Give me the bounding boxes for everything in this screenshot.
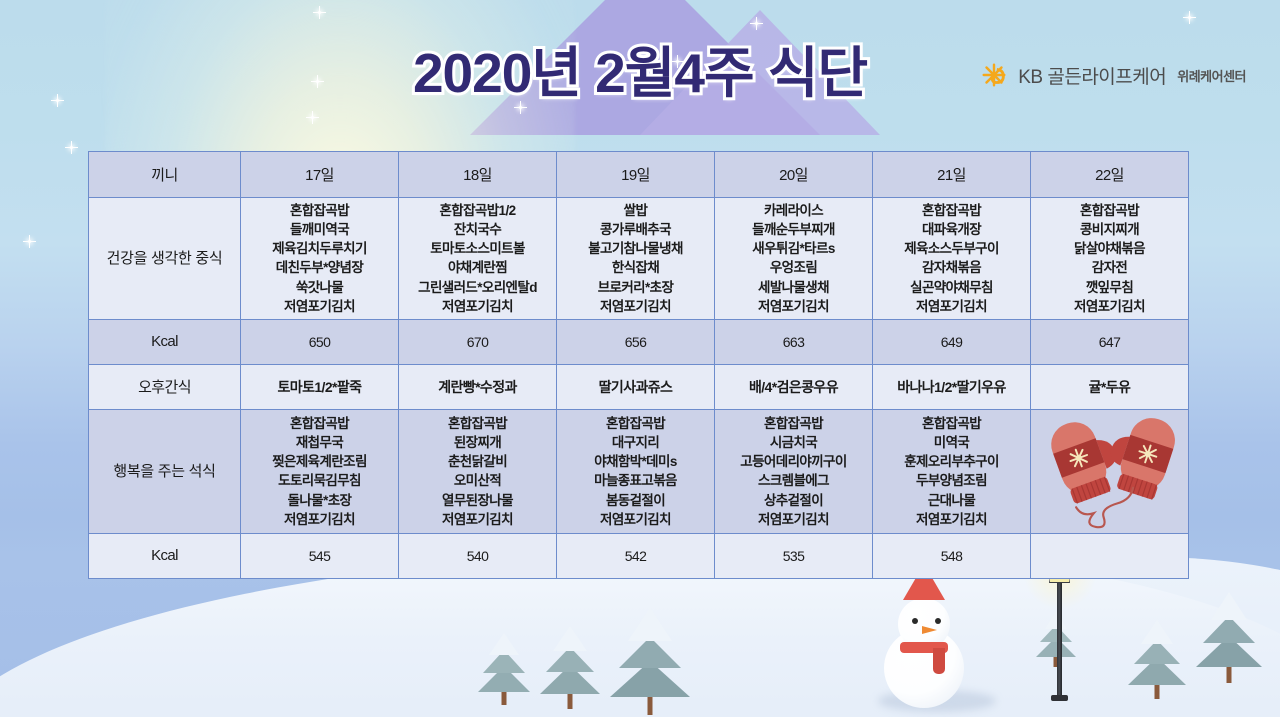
- poster-canvas: 2020년 2월4주 식단 KB 골든라이프케어 위례케어센터 끼니17일18일…: [0, 0, 1280, 717]
- dish-item: 새우튀김*타르s: [717, 239, 870, 258]
- menu-cell: 혼합잡곡밥1/2잔치국수토마토소스미트볼야채계란찜그린샐러드*오리엔탈d저염포기…: [399, 198, 557, 320]
- dish-item: 대구지리: [559, 433, 712, 452]
- dish-item: 들깨미역국: [243, 220, 396, 239]
- menu-cell: 딸기사과쥬스: [557, 364, 715, 409]
- menu-cell: 540: [399, 533, 557, 578]
- menu-cell: 650: [241, 319, 399, 364]
- menu-cell: 663: [715, 319, 873, 364]
- sparkle-star-icon: [755, 22, 758, 25]
- dish-item: 들깨순두부찌개: [717, 220, 870, 239]
- red-mittens-icon: [1031, 409, 1189, 533]
- column-header-day: 17일: [241, 152, 399, 198]
- pine-tree-icon: [610, 603, 690, 715]
- dish-list: 혼합잡곡밥시금치국고등어데리야끼구이스크렘블에그상추겉절이저염포기김치: [717, 414, 870, 529]
- dish-item: 열무된장나물: [401, 491, 554, 510]
- dish-item: 혼합잡곡밥: [243, 201, 396, 220]
- dish-list: 혼합잡곡밥콩비지찌개닭살야채볶음감자전깻잎무침저염포기김치: [1033, 201, 1186, 316]
- dish-item: 불고기참나물냉채: [559, 239, 712, 258]
- dish-item: 혼합잡곡밥: [559, 414, 712, 433]
- dish-item: 혼합잡곡밥: [243, 414, 396, 433]
- menu-cell: 656: [557, 319, 715, 364]
- dish-item: 세발나물생채: [717, 278, 870, 297]
- dish-item: 상추겉절이: [717, 491, 870, 510]
- dish-item: 두부양념조림: [875, 471, 1028, 490]
- column-header-day: 19일: [557, 152, 715, 198]
- dish-item: 혼합잡곡밥1/2: [401, 201, 554, 220]
- row-label: Kcal: [89, 533, 241, 578]
- dish-item: 감자채볶음: [875, 258, 1028, 277]
- table-header-row: 끼니17일18일19일20일21일22일: [89, 152, 1189, 198]
- menu-cell: 혼합잡곡밥대파육개장제육소스두부구이감자채볶음실곤약야채무침저염포기김치: [873, 198, 1031, 320]
- row-label: 오후간식: [89, 364, 241, 409]
- dish-item: 저염포기김치: [717, 510, 870, 529]
- dish-item: 제육소스두부구이: [875, 239, 1028, 258]
- dish-item: 스크렘블에그: [717, 471, 870, 490]
- dish-item: 춘천닭갈비: [401, 452, 554, 471]
- dish-item: 돌나물*초장: [243, 491, 396, 510]
- dish-item: 오미산적: [401, 471, 554, 490]
- dish-item: 저염포기김치: [875, 510, 1028, 529]
- dish-item: 카레라이스: [717, 201, 870, 220]
- dish-list: 혼합잡곡밥된장찌개춘천닭갈비오미산적열무된장나물저염포기김치: [401, 414, 554, 529]
- menu-cell: 혼합잡곡밥시금치국고등어데리야끼구이스크렘블에그상추겉절이저염포기김치: [715, 409, 873, 533]
- pine-tree-icon: [540, 623, 600, 709]
- row-label: Kcal: [89, 319, 241, 364]
- dish-item: 제육김치두루치기: [243, 239, 396, 258]
- dish-item: 저염포기김치: [559, 510, 712, 529]
- menu-cell: 545: [241, 533, 399, 578]
- table-row: Kcal650670656663649647: [89, 319, 1189, 364]
- dish-list: 혼합잡곡밥대파육개장제육소스두부구이감자채볶음실곤약야채무침저염포기김치: [875, 201, 1028, 316]
- sparkle-star-icon: [28, 240, 31, 243]
- menu-cell: 혼합잡곡밥된장찌개춘천닭갈비오미산적열무된장나물저염포기김치: [399, 409, 557, 533]
- menu-cell: 토마토1/2*팥죽: [241, 364, 399, 409]
- dish-item: 그린샐러드*오리엔탈d: [401, 278, 554, 297]
- dish-list: 혼합잡곡밥대구지리야채함박*데미s마늘종표고볶음봄동겉절이저염포기김치: [559, 414, 712, 529]
- menu-table: 끼니17일18일19일20일21일22일건강을 생각한 중식혼합잡곡밥들깨미역국…: [88, 151, 1189, 579]
- column-header-day: 20일: [715, 152, 873, 198]
- menu-cell: 카레라이스들깨순두부찌개새우튀김*타르s우엉조림세발나물생채저염포기김치: [715, 198, 873, 320]
- menu-cell: 혼합잡곡밥재첩무국찢은제육계란조림도토리묵김무침돌나물*초장저염포기김치: [241, 409, 399, 533]
- menu-cell: 649: [873, 319, 1031, 364]
- dish-item: 야채계란찜: [401, 258, 554, 277]
- row-label: 행복을 주는 석식: [89, 409, 241, 533]
- menu-cell: 계란빵*수정과: [399, 364, 557, 409]
- menu-cell: 쌀밥콩가루배추국불고기참나물냉채한식잡채브로커리*초장저염포기김치: [557, 198, 715, 320]
- pine-tree-icon: [1196, 589, 1262, 683]
- dish-item: 저염포기김치: [717, 297, 870, 316]
- brand-sub: 위례케어센터: [1177, 66, 1246, 85]
- sparkle-star-icon: [1188, 16, 1191, 19]
- dish-item: 된장찌개: [401, 433, 554, 452]
- dish-item: 혼합잡곡밥: [875, 414, 1028, 433]
- dish-item: 감자전: [1033, 258, 1186, 277]
- menu-cell: [1031, 533, 1189, 578]
- dish-list: 쌀밥콩가루배추국불고기참나물냉채한식잡채브로커리*초장저염포기김치: [559, 201, 712, 316]
- dish-item: 시금치국: [717, 433, 870, 452]
- column-header-day: 22일: [1031, 152, 1189, 198]
- menu-cell: 바나나1/2*딸기우유: [873, 364, 1031, 409]
- menu-cell: 혼합잡곡밥콩비지찌개닭살야채볶음감자전깻잎무침저염포기김치: [1031, 198, 1189, 320]
- dish-list: 혼합잡곡밥재첩무국찢은제육계란조림도토리묵김무침돌나물*초장저염포기김치: [243, 414, 396, 529]
- dish-item: 혼합잡곡밥: [401, 414, 554, 433]
- dish-item: 저염포기김치: [401, 297, 554, 316]
- menu-cell: 혼합잡곡밥들깨미역국제육김치두루치기데친두부*양념장쑥갓나물저염포기김치: [241, 198, 399, 320]
- dish-item: 데친두부*양념장: [243, 258, 396, 277]
- dish-item: 저염포기김치: [559, 297, 712, 316]
- dish-list: 혼합잡곡밥1/2잔치국수토마토소스미트볼야채계란찜그린샐러드*오리엔탈d저염포기…: [401, 201, 554, 316]
- menu-cell: 670: [399, 319, 557, 364]
- menu-cell: 535: [715, 533, 873, 578]
- dish-item: 브로커리*초장: [559, 278, 712, 297]
- dish-item: 저염포기김치: [243, 510, 396, 529]
- dish-list: 카레라이스들깨순두부찌개새우튀김*타르s우엉조림세발나물생채저염포기김치: [717, 201, 870, 316]
- dish-item: 한식잡채: [559, 258, 712, 277]
- dish-item: 저염포기김치: [401, 510, 554, 529]
- dish-item: 혼합잡곡밥: [1033, 201, 1186, 220]
- dish-item: 고등어데리야끼구이: [717, 452, 870, 471]
- brand-name: KB 골든라이프케어: [1018, 62, 1166, 89]
- sparkle-star-icon: [70, 146, 73, 149]
- snowman-icon: [862, 570, 1002, 717]
- menu-cell: 배/4*검은콩우유: [715, 364, 873, 409]
- brand-logo: KB 골든라이프케어 위례케어센터: [979, 60, 1246, 90]
- dish-item: 마늘종표고볶음: [559, 471, 712, 490]
- dish-item: 봄동겉절이: [559, 491, 712, 510]
- menu-cell: 647: [1031, 319, 1189, 364]
- dish-item: 쑥갓나물: [243, 278, 396, 297]
- dish-item: 저염포기김치: [243, 297, 396, 316]
- dish-item: 혼합잡곡밥: [875, 201, 1028, 220]
- dish-item: 깻잎무침: [1033, 278, 1186, 297]
- kb-star-icon: [979, 60, 1009, 90]
- column-header-day: 21일: [873, 152, 1031, 198]
- dish-item: 도토리묵김무침: [243, 471, 396, 490]
- menu-cell: 혼합잡곡밥대구지리야채함박*데미s마늘종표고볶음봄동겉절이저염포기김치: [557, 409, 715, 533]
- dish-item: 야채함박*데미s: [559, 452, 712, 471]
- sparkle-star-icon: [311, 116, 314, 119]
- table-row: 건강을 생각한 중식혼합잡곡밥들깨미역국제육김치두루치기데친두부*양념장쑥갓나물…: [89, 198, 1189, 320]
- menu-cell: 혼합잡곡밥미역국훈제오리부추구이두부양념조림근대나물저염포기김치: [873, 409, 1031, 533]
- dish-list: 혼합잡곡밥들깨미역국제육김치두루치기데친두부*양념장쑥갓나물저염포기김치: [243, 201, 396, 316]
- dish-item: 근대나물: [875, 491, 1028, 510]
- column-header-day: 18일: [399, 152, 557, 198]
- dish-item: 저염포기김치: [875, 297, 1028, 316]
- dish-item: 우엉조림: [717, 258, 870, 277]
- menu-cell: 548: [873, 533, 1031, 578]
- dish-item: 혼합잡곡밥: [717, 414, 870, 433]
- dish-list: 혼합잡곡밥미역국훈제오리부추구이두부양념조림근대나물저염포기김치: [875, 414, 1028, 529]
- dish-item: 미역국: [875, 433, 1028, 452]
- dish-item: 토마토소스미트볼: [401, 239, 554, 258]
- menu-cell: 귤*두유: [1031, 364, 1189, 409]
- column-header-meal: 끼니: [89, 152, 241, 198]
- table-row: 오후간식토마토1/2*팥죽계란빵*수정과딸기사과쥬스배/4*검은콩우유바나나1/…: [89, 364, 1189, 409]
- dish-item: 잔치국수: [401, 220, 554, 239]
- row-label: 건강을 생각한 중식: [89, 198, 241, 320]
- dish-item: 찢은제육계란조림: [243, 452, 396, 471]
- sparkle-star-icon: [318, 11, 321, 14]
- dish-item: 대파육개장: [875, 220, 1028, 239]
- dish-item: 훈제오리부추구이: [875, 452, 1028, 471]
- dish-item: 콩가루배추국: [559, 220, 712, 239]
- dish-item: 쌀밥: [559, 201, 712, 220]
- table-row: 행복을 주는 석식혼합잡곡밥재첩무국찢은제육계란조림도토리묵김무침돌나물*초장저…: [89, 409, 1189, 533]
- table-row: Kcal545540542535548: [89, 533, 1189, 578]
- dish-item: 실곤약야채무침: [875, 278, 1028, 297]
- menu-cell: 542: [557, 533, 715, 578]
- pine-tree-icon: [478, 629, 530, 705]
- dish-item: 콩비지찌개: [1033, 220, 1186, 239]
- dish-item: 닭살야채볶음: [1033, 239, 1186, 258]
- dish-item: 저염포기김치: [1033, 297, 1186, 316]
- pine-tree-icon: [1128, 617, 1186, 699]
- dish-item: 재첩무국: [243, 433, 396, 452]
